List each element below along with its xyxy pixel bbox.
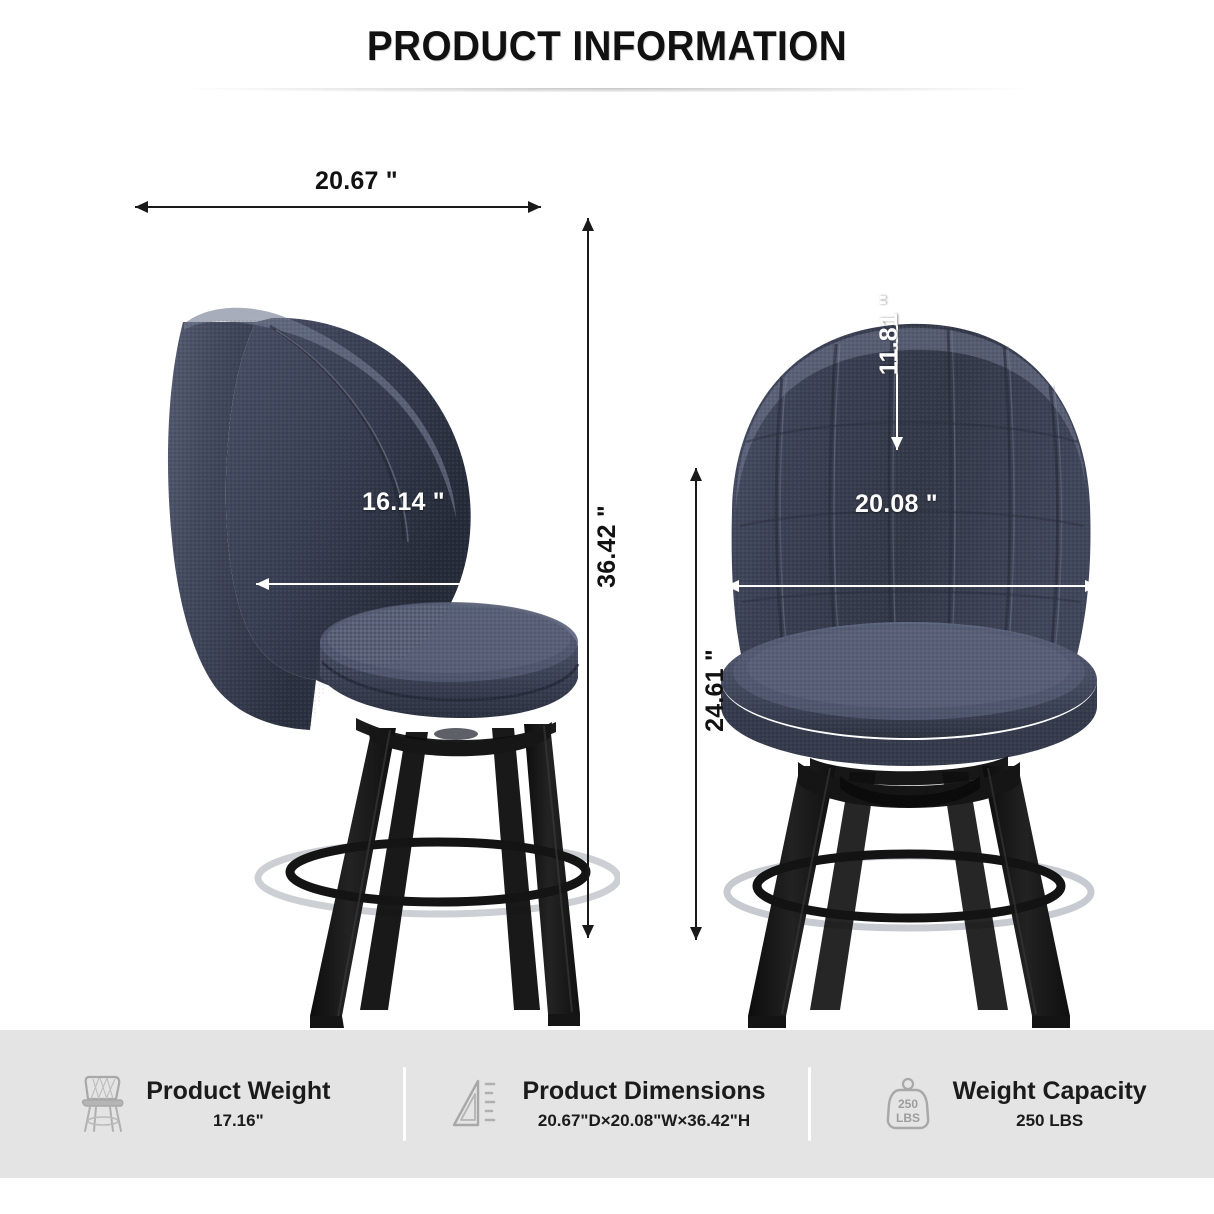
arrow-head-bottom bbox=[690, 927, 702, 940]
arrow-head-right bbox=[543, 578, 556, 590]
page-header: PRODUCT INFORMATION bbox=[0, 0, 1214, 92]
spec-value: 17.16" bbox=[213, 1111, 264, 1131]
weight-icon-top-text: 250 bbox=[898, 1097, 918, 1111]
front-view-bar-stool bbox=[690, 210, 1130, 1040]
arrow-head-right bbox=[528, 201, 541, 213]
spec-product-weight: Product Weight 17.16" bbox=[0, 1030, 403, 1178]
spec-title: Product Weight bbox=[146, 1077, 330, 1106]
spec-text-block: Product Dimensions 20.67"D×20.08"W×36.42… bbox=[522, 1077, 765, 1131]
arrow-head-bottom bbox=[582, 925, 594, 938]
spec-value: 250 LBS bbox=[1016, 1111, 1083, 1131]
dimension-arrow-seat-depth bbox=[256, 577, 556, 591]
product-information-page: PRODUCT INFORMATION bbox=[0, 0, 1214, 1214]
arrow-head-left bbox=[135, 201, 148, 213]
spec-text-block: Product Weight 17.16" bbox=[146, 1077, 330, 1131]
arrow-head-left bbox=[256, 578, 269, 590]
arrow-head-right bbox=[1085, 580, 1098, 592]
dimension-label-seat-height: 24.61 " bbox=[701, 649, 730, 732]
triangle-ruler-icon bbox=[448, 1071, 506, 1137]
weight-icon-bottom-text: LBS bbox=[896, 1111, 920, 1125]
spec-title: Product Dimensions bbox=[522, 1077, 765, 1106]
page-title: PRODUCT INFORMATION bbox=[367, 22, 847, 70]
spec-title: Weight Capacity bbox=[953, 1077, 1147, 1106]
arrow-line bbox=[135, 206, 541, 208]
dimension-label-overall-width: 20.08 " bbox=[855, 490, 938, 519]
dimension-label-overall-depth: 20.67 " bbox=[315, 167, 398, 196]
weight-tag-icon: 250 LBS bbox=[879, 1071, 937, 1137]
arrow-head-bottom bbox=[891, 437, 903, 450]
spec-value: 20.67"D×20.08"W×36.42"H bbox=[538, 1111, 750, 1131]
arrow-line bbox=[695, 468, 697, 940]
spec-weight-capacity: 250 LBS Weight Capacity 250 LBS bbox=[811, 1030, 1214, 1178]
arrow-head-top bbox=[690, 468, 702, 481]
arrow-head-top bbox=[891, 220, 903, 233]
dimension-label-seat-depth: 16.14 " bbox=[362, 488, 445, 517]
dimension-label-backrest-height: 11.81 " bbox=[875, 294, 904, 375]
arrow-line bbox=[256, 583, 556, 585]
arrow-head-top bbox=[582, 218, 594, 231]
product-diagram: 20.67 " 16.14 " 36.42 " 24.61 " bbox=[0, 92, 1214, 1022]
side-view-bar-stool bbox=[120, 210, 620, 1040]
arrow-line bbox=[587, 218, 589, 938]
spec-text-block: Weight Capacity 250 LBS bbox=[953, 1077, 1147, 1131]
dimension-label-overall-height: 36.42 " bbox=[593, 505, 622, 588]
dimension-arrow-overall-width bbox=[726, 579, 1098, 593]
spec-bar: Product Weight 17.16" Product Dim bbox=[0, 1030, 1214, 1178]
spec-product-dimensions: Product Dimensions 20.67"D×20.08"W×36.42… bbox=[406, 1030, 809, 1178]
dimension-arrow-overall-depth bbox=[135, 200, 541, 214]
bar-stool-icon bbox=[72, 1071, 130, 1137]
arrow-head-left bbox=[726, 580, 739, 592]
arrow-line bbox=[726, 585, 1098, 587]
